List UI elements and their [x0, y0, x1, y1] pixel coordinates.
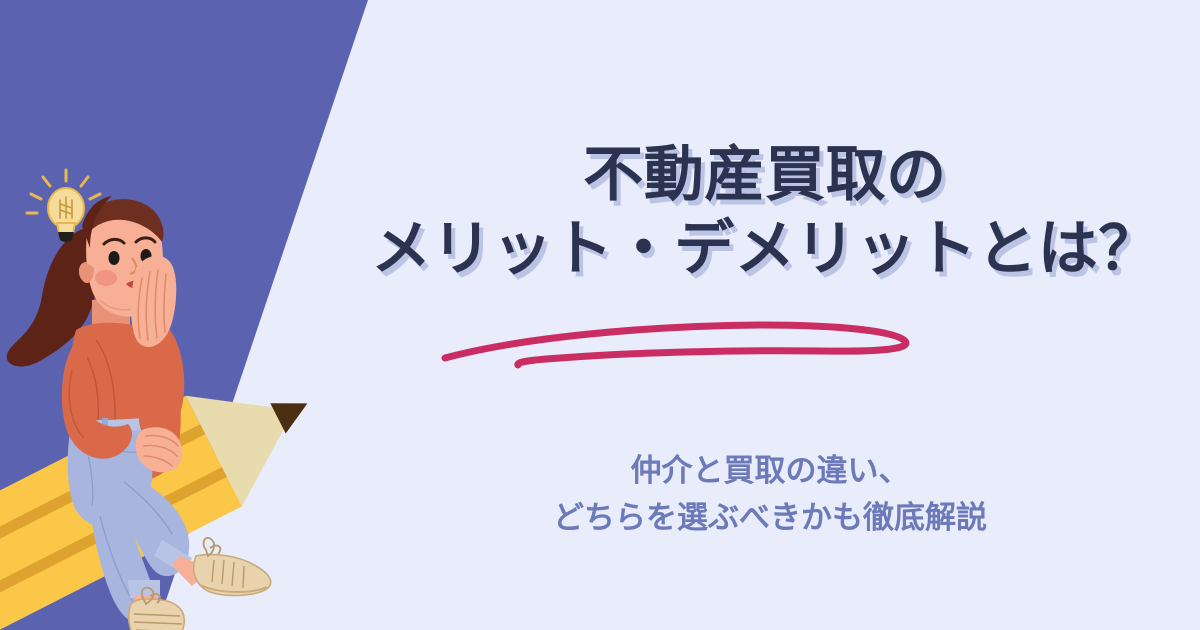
banner-canvas: 不動産買取の メリット・デメリットとは？ 仲介と買取の違い、 どちらを選ぶべきか… — [0, 0, 1200, 630]
pink-underline-swoosh — [0, 0, 1200, 630]
